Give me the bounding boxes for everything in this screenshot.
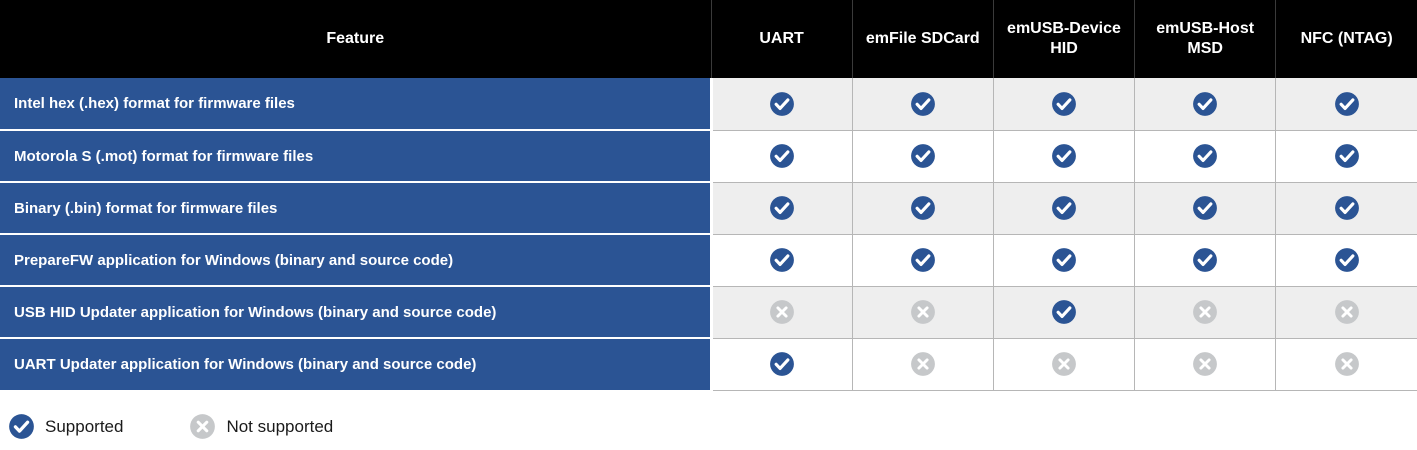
support-cell-emfile-sdcard xyxy=(852,182,993,234)
column-header-emfile-sdcard: emFile SDCard xyxy=(852,0,993,78)
legend-item-not-supported: Not supported xyxy=(189,413,333,440)
column-header-emusb-device-hid: emUSB-Device HID xyxy=(993,0,1134,78)
x-circle-icon xyxy=(910,299,936,325)
x-circle-icon xyxy=(1334,299,1360,325)
check-circle-icon xyxy=(910,195,936,221)
legend-item-supported: Supported xyxy=(8,413,123,440)
feature-label: PrepareFW application for Windows (binar… xyxy=(0,234,711,286)
x-circle-icon xyxy=(910,351,936,377)
x-circle-icon xyxy=(769,299,795,325)
support-cell-emusb-host-msd xyxy=(1135,234,1276,286)
table-row: Binary (.bin) format for firmware files xyxy=(0,182,1417,234)
check-circle-icon xyxy=(1051,91,1077,117)
feature-label: Intel hex (.hex) format for firmware fil… xyxy=(0,78,711,130)
support-cell-emusb-host-msd xyxy=(1135,182,1276,234)
check-circle-icon xyxy=(1051,299,1077,325)
check-circle-icon xyxy=(1334,143,1360,169)
column-header-emusb-host-msd: emUSB-Host MSD xyxy=(1135,0,1276,78)
table-row: Intel hex (.hex) format for firmware fil… xyxy=(0,78,1417,130)
check-circle-icon xyxy=(769,351,795,377)
check-circle-icon xyxy=(769,143,795,169)
support-cell-emfile-sdcard xyxy=(852,234,993,286)
legend-label-not-supported: Not supported xyxy=(226,417,333,437)
check-circle-icon xyxy=(769,91,795,117)
check-circle-icon xyxy=(1192,91,1218,117)
legend-label-supported: Supported xyxy=(45,417,123,437)
support-cell-emusb-host-msd xyxy=(1135,130,1276,182)
support-cell-emusb-device-hid xyxy=(993,130,1134,182)
support-cell-emusb-device-hid xyxy=(993,78,1134,130)
table-header: Feature UART emFile SDCard emUSB-Device … xyxy=(0,0,1417,78)
support-cell-uart xyxy=(711,338,852,390)
feature-label: Motorola S (.mot) format for firmware fi… xyxy=(0,130,711,182)
table-header-row: Feature UART emFile SDCard emUSB-Device … xyxy=(0,0,1417,78)
table-row: Motorola S (.mot) format for firmware fi… xyxy=(0,130,1417,182)
feature-label: Binary (.bin) format for firmware files xyxy=(0,182,711,234)
support-cell-nfc-ntag xyxy=(1276,286,1417,338)
table-body: Intel hex (.hex) format for firmware fil… xyxy=(0,78,1417,390)
x-circle-icon xyxy=(189,413,216,440)
support-cell-uart xyxy=(711,182,852,234)
check-circle-icon xyxy=(1192,143,1218,169)
check-circle-icon xyxy=(1192,247,1218,273)
table-row: PrepareFW application for Windows (binar… xyxy=(0,234,1417,286)
support-cell-nfc-ntag xyxy=(1276,234,1417,286)
support-cell-emusb-device-hid xyxy=(993,286,1134,338)
support-cell-emfile-sdcard xyxy=(852,286,993,338)
support-cell-emusb-host-msd xyxy=(1135,338,1276,390)
x-circle-icon xyxy=(1192,351,1218,377)
support-cell-emusb-device-hid xyxy=(993,182,1134,234)
support-cell-nfc-ntag xyxy=(1276,182,1417,234)
support-cell-uart xyxy=(711,286,852,338)
support-cell-uart xyxy=(711,234,852,286)
column-header-nfc-ntag: NFC (NTAG) xyxy=(1276,0,1417,78)
check-circle-icon xyxy=(1051,195,1077,221)
check-circle-icon xyxy=(1051,247,1077,273)
check-circle-icon xyxy=(1051,143,1077,169)
support-cell-nfc-ntag xyxy=(1276,130,1417,182)
support-cell-emfile-sdcard xyxy=(852,78,993,130)
table-row: USB HID Updater application for Windows … xyxy=(0,286,1417,338)
check-circle-icon xyxy=(1334,195,1360,221)
support-cell-emusb-device-hid xyxy=(993,338,1134,390)
support-cell-uart xyxy=(711,130,852,182)
feature-label: USB HID Updater application for Windows … xyxy=(0,286,711,338)
check-circle-icon xyxy=(769,195,795,221)
support-cell-uart xyxy=(711,78,852,130)
feature-label: UART Updater application for Windows (bi… xyxy=(0,338,711,390)
column-header-uart: UART xyxy=(711,0,852,78)
check-circle-icon xyxy=(1334,91,1360,117)
check-circle-icon xyxy=(910,143,936,169)
check-circle-icon xyxy=(1334,247,1360,273)
support-cell-emusb-device-hid xyxy=(993,234,1134,286)
support-cell-nfc-ntag xyxy=(1276,338,1417,390)
support-cell-emfile-sdcard xyxy=(852,130,993,182)
feature-comparison-table: Feature UART emFile SDCard emUSB-Device … xyxy=(0,0,1417,391)
x-circle-icon xyxy=(1334,351,1360,377)
check-circle-icon xyxy=(8,413,35,440)
x-circle-icon xyxy=(1051,351,1077,377)
table-row: UART Updater application for Windows (bi… xyxy=(0,338,1417,390)
x-circle-icon xyxy=(1192,299,1218,325)
check-circle-icon xyxy=(769,247,795,273)
column-header-feature: Feature xyxy=(0,0,711,78)
support-cell-emusb-host-msd xyxy=(1135,78,1276,130)
legend: Supported Not supported xyxy=(0,391,1417,449)
support-cell-nfc-ntag xyxy=(1276,78,1417,130)
support-cell-emfile-sdcard xyxy=(852,338,993,390)
support-cell-emusb-host-msd xyxy=(1135,286,1276,338)
check-circle-icon xyxy=(910,91,936,117)
check-circle-icon xyxy=(1192,195,1218,221)
check-circle-icon xyxy=(910,247,936,273)
